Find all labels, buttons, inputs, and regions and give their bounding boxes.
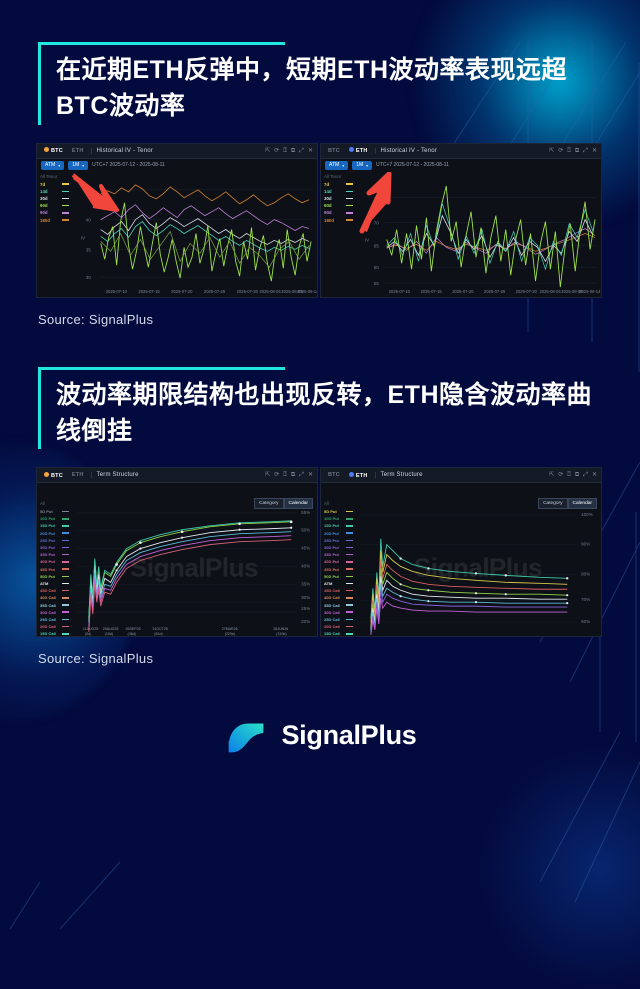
panel-btc-term-structure[interactable]: BTC ETH Term Structure ⇱ ⟳ ⍰ ⧉ ⤢ ✕ Categ… (36, 467, 318, 637)
legend-item[interactable]: 20D Call (324, 623, 353, 630)
panel-title: Term Structure (91, 472, 139, 478)
panel-body: All Tenor 7d 14d 30d 60d 90d 180d (321, 172, 601, 297)
calendar-button[interactable]: Calendar (284, 498, 313, 509)
symbol-btc[interactable]: BTC (325, 147, 343, 155)
legend-item[interactable]: 30D Call (40, 609, 69, 616)
svg-text:50%: 50% (301, 528, 310, 533)
view-mode-toggle[interactable]: Category Calendar (254, 498, 313, 509)
legend-item[interactable]: ATM (324, 580, 353, 587)
legend-item[interactable]: 60d (324, 202, 353, 209)
close-icon[interactable]: ✕ (592, 148, 597, 154)
svg-text:2025-08-14: 2025-08-14 (579, 289, 601, 294)
legend-item[interactable]: 15D Put (324, 522, 353, 529)
headline-accent-bar-left (38, 42, 41, 125)
legend-item[interactable]: 14d (40, 188, 69, 195)
legend-item[interactable]: 35D Put (324, 551, 353, 558)
legend-title: All (40, 501, 69, 506)
legend-strikes[interactable]: All 5D Put 10D Put 15D Put 20D Put 25D P… (321, 499, 355, 636)
legend-item[interactable]: 30D Call (324, 609, 353, 616)
symbol-btc[interactable]: BTC (325, 471, 343, 479)
eth-dot-icon (349, 147, 354, 152)
panel-title: Historical IV - Tenor (91, 148, 153, 154)
legend-item[interactable]: ATM (40, 580, 69, 587)
legend-item[interactable]: 40D Put (40, 558, 69, 565)
svg-text:40: 40 (86, 217, 92, 222)
svg-text:45%: 45% (301, 546, 310, 551)
line-chart-svg: 45 40 35 30 IV (71, 172, 317, 298)
legend-item[interactable]: 180d (324, 216, 353, 223)
svg-text:26SEP25: 26SEP25 (126, 627, 141, 631)
svg-text:70%: 70% (581, 597, 590, 602)
svg-text:(18d): (18d) (105, 632, 113, 636)
svg-text:(229d): (229d) (225, 632, 235, 636)
svg-text:40%: 40% (301, 563, 310, 568)
legend-item[interactable]: 45D Call (40, 587, 69, 594)
svg-text:45: 45 (86, 187, 92, 192)
svg-text:60%: 60% (581, 619, 590, 624)
legend-item[interactable]: 35D Call (324, 601, 353, 608)
refresh-icon[interactable]: ⟳ (274, 148, 279, 154)
eth-dot-icon (349, 472, 354, 477)
legend-item[interactable]: 50D Put (324, 573, 353, 580)
legend-item[interactable]: 30d (40, 195, 69, 202)
headline-accent-bar-top (38, 42, 285, 45)
legend-item[interactable]: 20D Call (40, 623, 69, 630)
svg-text:90%: 90% (581, 542, 590, 547)
symbol-eth[interactable]: ETH (346, 146, 371, 155)
svg-text:31OCT25: 31OCT25 (152, 627, 167, 631)
panel-eth-historical-iv[interactable]: BTC ETH Historical IV - Tenor ⇱ ⟳ ⍰ ⧉ ⤢ … (320, 143, 602, 298)
panel-toolbar[interactable]: ⇱ ⟳ ⍰ ⧉ ⤢ ✕ (549, 472, 597, 478)
chevron-down-icon: ▾ (366, 163, 368, 168)
panel-btc-historical-iv[interactable]: BTC ETH Historical IV - Tenor ⇱ ⟳ ⍰ ⧉ ⤢ … (36, 143, 318, 298)
svg-text:2025-07-30: 2025-07-30 (237, 289, 259, 294)
source-label-1: Source: SignalPlus (38, 312, 640, 327)
expand-icon[interactable]: ⤢ (583, 472, 588, 478)
panel-header: BTC ETH Term Structure ⇱ ⟳ ⍰ ⧉ ⤢ ✕ (321, 468, 601, 483)
panel-header: BTC ETH Historical IV - Tenor ⇱ ⟳ ⍰ ⧉ ⤢ … (321, 144, 601, 159)
panel-toolbar[interactable]: ⇱ ⟳ ⍰ ⧉ ⤢ ✕ (265, 148, 313, 154)
copy-icon[interactable]: ⧉ (291, 148, 295, 154)
svg-text:(319d): (319d) (276, 632, 286, 636)
plot-eth-iv[interactable]: 75 70 65 60 55 IV (355, 172, 601, 297)
panel-header: BTC ETH Historical IV - Tenor ⇱ ⟳ ⍰ ⧉ ⤢ … (37, 144, 317, 159)
svg-text:2025-07-25: 2025-07-25 (204, 289, 226, 294)
chart-row-historical-iv: BTC ETH Historical IV - Tenor ⇱ ⟳ ⍰ ⧉ ⤢ … (0, 143, 640, 298)
legend-title: All Tenor (40, 174, 69, 179)
legend-item[interactable]: 20D Put (324, 530, 353, 537)
line-chart-svg: 75 70 65 60 55 IV (355, 172, 601, 298)
svg-text:2025-08-04: 2025-08-04 (259, 289, 281, 294)
legend-item[interactable]: 25D Put (324, 537, 353, 544)
legend-item[interactable]: 25D Call (40, 616, 69, 623)
period-dropdown[interactable]: 1M▾ (68, 161, 88, 170)
legend-item[interactable]: 5D Put (40, 508, 69, 515)
legend-item[interactable]: 30D Put (324, 544, 353, 551)
export-icon[interactable]: ⇱ (265, 148, 270, 154)
svg-text:IV: IV (81, 235, 86, 240)
svg-text:30: 30 (86, 275, 92, 280)
legend-item[interactable]: 30d (324, 195, 353, 202)
svg-text:26JUN26: 26JUN26 (273, 627, 288, 631)
legend-item[interactable]: 20D Put (40, 530, 69, 537)
close-icon[interactable]: ✕ (308, 472, 313, 478)
svg-text:(46d): (46d) (128, 632, 136, 636)
expand-icon[interactable]: ⤢ (583, 148, 588, 154)
legend-item[interactable]: 60d (40, 202, 69, 209)
copy-icon[interactable]: ⧉ (575, 472, 579, 478)
chart-row-term-structure: BTC ETH Term Structure ⇱ ⟳ ⍰ ⧉ ⤢ ✕ Categ… (0, 467, 640, 637)
svg-text:35%: 35% (301, 581, 310, 586)
legend-item[interactable]: 90d (324, 209, 353, 216)
svg-text:100%: 100% (581, 512, 593, 517)
symbol-btc[interactable]: BTC (41, 471, 66, 480)
btc-dot-icon (44, 472, 49, 477)
legend-item[interactable]: 90d (40, 209, 69, 216)
symbol-switcher[interactable]: BTC ETH (41, 146, 87, 155)
legend-item[interactable]: 15D Put (40, 522, 69, 529)
legend-tenor[interactable]: All Tenor 7d 14d 30d 60d 90d 180d (37, 172, 71, 297)
symbol-eth[interactable]: ETH (69, 147, 87, 155)
symbol-btc[interactable]: BTC (41, 146, 66, 155)
legend-item[interactable]: 40D Call (324, 594, 353, 601)
svg-text:2025-07-20: 2025-07-20 (171, 289, 193, 294)
svg-text:2025-07-15: 2025-07-15 (420, 289, 442, 294)
symbol-switcher[interactable]: BTC ETH (325, 146, 371, 155)
headline-accent-bar-top (38, 367, 285, 370)
close-icon[interactable]: ✕ (592, 472, 597, 478)
svg-text:55: 55 (374, 281, 380, 286)
headline-block-1: 在近期ETH反弹中，短期ETH波动率表现远超BTC波动率 (38, 42, 604, 125)
calendar-button[interactable]: Calendar (568, 498, 597, 509)
legend-item[interactable]: 7d (40, 181, 69, 188)
legend-item[interactable]: 40D Call (40, 594, 69, 601)
svg-text:11AUG25: 11AUG25 (83, 627, 98, 631)
info-icon[interactable]: ⍰ (283, 472, 287, 478)
close-icon[interactable]: ✕ (308, 148, 313, 154)
period-dropdown[interactable]: 1M▾ (352, 161, 372, 170)
svg-text:27MAR26: 27MAR26 (222, 627, 238, 631)
svg-text:80%: 80% (581, 571, 590, 576)
svg-text:2025-07-15: 2025-07-15 (138, 289, 160, 294)
legend-title: All (324, 501, 353, 506)
legend-item[interactable]: 30D Put (40, 544, 69, 551)
svg-text:25%: 25% (301, 606, 310, 611)
plot-eth-term[interactable]: SignalPlus 100% 90% 80% (355, 499, 601, 636)
refresh-icon[interactable]: ⟳ (274, 472, 279, 478)
brand-name: SignalPlus (281, 720, 416, 751)
info-icon[interactable]: ⍰ (567, 472, 571, 478)
svg-text:60: 60 (374, 265, 380, 270)
filter-atm-dropdown[interactable]: ATM▾ (41, 161, 64, 170)
footer-brand: SignalPlus (0, 712, 640, 758)
line-chart-svg: 100% 90% 80% 70% 60% (355, 499, 601, 637)
legend-item[interactable]: 45D Put (324, 566, 353, 573)
headline-accent-bar-left (38, 367, 41, 450)
panel-title: Term Structure (375, 472, 423, 478)
legend-item[interactable]: 50D Put (40, 573, 69, 580)
legend-item[interactable]: 15D Call (324, 630, 353, 637)
svg-text:20%: 20% (301, 619, 310, 624)
export-icon[interactable]: ⇱ (265, 472, 270, 478)
panel-subheader: ATM▾ 1M▾ UTC+7 2025-07-12 - 2025-08-11 (37, 159, 317, 172)
symbol-switcher[interactable]: BTC ETH (325, 471, 371, 480)
legend-item[interactable]: 10D Put (324, 515, 353, 522)
legend-item[interactable]: 5D Put (324, 508, 353, 515)
svg-text:2025-07-25: 2025-07-25 (484, 289, 506, 294)
legend-item[interactable]: 10D Put (40, 515, 69, 522)
refresh-icon[interactable]: ⟳ (558, 148, 563, 154)
expand-icon[interactable]: ⤢ (299, 472, 304, 478)
svg-text:55%: 55% (301, 510, 310, 515)
legend-strikes[interactable]: All 5D Put 10D Put 15D Put 20D Put 25D P… (37, 499, 71, 636)
info-icon[interactable]: ⍰ (567, 148, 571, 154)
svg-text:30%: 30% (301, 595, 310, 600)
legend-item[interactable]: 15D Call (40, 630, 69, 637)
svg-text:65: 65 (374, 243, 380, 248)
line-chart-svg: 55% 50% 45% 40% 35% 30% 25% 20% (71, 499, 317, 637)
legend-item[interactable]: 35D Call (40, 601, 69, 608)
legend-tenor[interactable]: All Tenor 7d 14d 30d 60d 90d 180d (321, 172, 355, 297)
chevron-down-icon: ▾ (82, 163, 84, 168)
legend-item[interactable]: 35D Put (40, 551, 69, 558)
legend-item[interactable]: 45D Put (40, 566, 69, 573)
symbol-eth[interactable]: ETH (69, 471, 87, 479)
export-icon[interactable]: ⇱ (549, 472, 554, 478)
chevron-down-icon: ▾ (342, 163, 344, 168)
headline-block-2: 波动率期限结构也出现反转，ETH隐含波动率曲线倒挂 (38, 367, 604, 450)
legend-item[interactable]: 40D Put (324, 558, 353, 565)
chevron-down-icon: ▾ (58, 163, 60, 168)
panel-toolbar[interactable]: ⇱ ⟳ ⍰ ⧉ ⤢ ✕ (549, 148, 597, 154)
legend-item[interactable]: 25D Put (40, 537, 69, 544)
svg-text:29AUG25: 29AUG25 (103, 627, 119, 631)
source-label-2: Source: SignalPlus (38, 651, 640, 666)
expand-icon[interactable]: ⤢ (299, 148, 304, 154)
svg-text:2025-07-10: 2025-07-10 (389, 289, 411, 294)
svg-text:2025-07-30: 2025-07-30 (516, 289, 538, 294)
legend-title: All Tenor (324, 174, 353, 179)
view-mode-toggle[interactable]: Category Calendar (538, 498, 597, 509)
svg-text:(0d): (0d) (85, 632, 91, 636)
legend-item[interactable]: 45D Call (324, 587, 353, 594)
svg-text:2025-08-14: 2025-08-14 (297, 289, 317, 294)
panel-title: Historical IV - Tenor (375, 148, 437, 154)
svg-text:75: 75 (374, 195, 380, 200)
plot-btc-term[interactable]: SignalPlus 55% 50 (71, 499, 317, 636)
symbol-eth[interactable]: ETH (346, 471, 371, 480)
panel-header: BTC ETH Term Structure ⇱ ⟳ ⍰ ⧉ ⤢ ✕ (37, 468, 317, 483)
legend-item[interactable]: 25D Call (324, 616, 353, 623)
svg-text:IV: IV (365, 237, 370, 242)
export-icon[interactable]: ⇱ (549, 148, 554, 154)
filter-atm-dropdown[interactable]: ATM▾ (325, 161, 348, 170)
legend-item[interactable]: 180d (40, 216, 69, 223)
refresh-icon[interactable]: ⟳ (558, 472, 563, 478)
page-title-1: 在近期ETH反弹中，短期ETH波动率表现远超BTC波动率 (56, 52, 604, 125)
svg-text:35: 35 (86, 247, 92, 252)
panel-eth-term-structure[interactable]: BTC ETH Term Structure ⇱ ⟳ ⍰ ⧉ ⤢ ✕ Categ… (320, 467, 602, 637)
svg-text:2025-07-10: 2025-07-10 (106, 289, 128, 294)
copy-icon[interactable]: ⧉ (291, 472, 295, 478)
legend-item[interactable]: 14d (324, 188, 353, 195)
date-range-label: UTC+7 2025-07-12 - 2025-08-11 (376, 162, 449, 168)
panel-toolbar[interactable]: ⇱ ⟳ ⍰ ⧉ ⤢ ✕ (265, 472, 313, 478)
svg-text:2025-08-04: 2025-08-04 (539, 289, 561, 294)
svg-text:2025-07-20: 2025-07-20 (452, 289, 474, 294)
copy-icon[interactable]: ⧉ (575, 148, 579, 154)
svg-text:(81d): (81d) (154, 632, 162, 636)
info-icon[interactable]: ⍰ (283, 148, 287, 154)
category-button[interactable]: Category (538, 498, 567, 509)
date-range-label: UTC+7 2025-07-12 - 2025-08-11 (92, 162, 165, 168)
plot-btc-iv[interactable]: 45 40 35 30 IV (71, 172, 317, 297)
page-title-2: 波动率期限结构也出现反转，ETH隐含波动率曲线倒挂 (56, 377, 604, 450)
panel-subheader: ATM▾ 1M▾ UTC+7 2025-07-12 - 2025-08-11 (321, 159, 601, 172)
category-button[interactable]: Category (254, 498, 283, 509)
symbol-switcher[interactable]: BTC ETH (41, 471, 87, 480)
legend-item[interactable]: 7d (324, 181, 353, 188)
signalplus-logo-icon (223, 712, 269, 758)
btc-dot-icon (44, 147, 49, 152)
panel-body: All Tenor 7d 14d 30d 60d 90d 180d (37, 172, 317, 297)
svg-text:70: 70 (374, 220, 380, 225)
